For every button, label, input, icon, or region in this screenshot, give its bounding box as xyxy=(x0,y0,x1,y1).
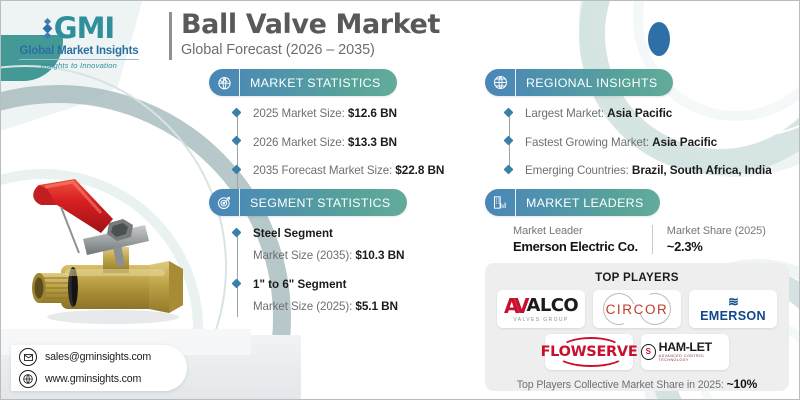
row-value: $5.1 BN xyxy=(355,299,398,313)
row-value: $10.3 BN xyxy=(355,248,404,262)
row-value: Asia Pacific xyxy=(652,135,717,149)
badge-label: MARKET STATISTICS xyxy=(240,76,397,90)
badge-label: MARKET LEADERS xyxy=(516,196,660,210)
bar-chart-building-icon xyxy=(485,189,516,216)
decorative-blue-dot xyxy=(648,22,670,56)
envelope-icon xyxy=(19,348,37,366)
emerson-wordmark: EMERSON xyxy=(700,310,766,323)
list-item: Largest Market: Asia Pacific xyxy=(505,104,772,122)
market-share-label: Market Share (2025) xyxy=(667,225,766,237)
globe-icon xyxy=(19,370,37,388)
player-logo-alco: AV ALCO VALVES GROUP xyxy=(497,290,585,328)
hamlet-wordmark: HAM-LET xyxy=(659,341,729,353)
diamond-marker-icon xyxy=(232,107,242,117)
emerson-mark-icon: ≋ xyxy=(728,295,738,308)
row-label: 2026 Market Size: xyxy=(253,136,348,149)
segment-detail: Market Size (2035): $10.3 BN xyxy=(233,248,404,262)
circor-swoosh-icon xyxy=(598,288,641,331)
flowserve-arc-bottom-icon xyxy=(557,343,625,367)
player-logo-emerson: ≋ EMERSON xyxy=(689,290,777,328)
page-title: Ball Valve Market xyxy=(181,9,440,40)
logo-tagline: Insights to Innovation xyxy=(9,61,149,70)
gmi-logo: GMI Global Market Insights Insights to I… xyxy=(9,13,149,69)
row-value: $13.3 BN xyxy=(348,135,397,149)
badge-segment-statistics: SEGMENT STATISTICS xyxy=(209,189,407,216)
diamond-marker-icon xyxy=(504,107,514,117)
player-logo-circor: CIRCOR xyxy=(593,290,681,328)
decorative-arc-top-right-3 xyxy=(633,0,800,121)
row-label: Fastest Growing Market: xyxy=(525,136,652,149)
segment-title: 1" to 6" Segment xyxy=(253,278,346,291)
circor-swoosh-icon-2 xyxy=(634,288,677,331)
globe-icon xyxy=(485,69,516,96)
logo-company-name: Global Market Insights xyxy=(9,45,149,57)
diamond-marker-icon xyxy=(232,136,242,146)
row-value: $22.8 BN xyxy=(395,163,444,177)
list-item: 1" to 6" Segment xyxy=(233,275,404,293)
diamond-marker-icon xyxy=(504,164,514,174)
row-label: Market Size (2035): xyxy=(253,249,355,262)
list-item: Fastest Growing Market: Asia Pacific xyxy=(505,133,772,151)
diamond-marker-icon xyxy=(232,278,242,288)
row-label: Emerging Countries: xyxy=(525,164,632,177)
top-players-panel: TOP PLAYERS AV ALCO VALVES GROUP CIRCOR xyxy=(485,263,789,391)
badge-market-statistics: MARKET STATISTICS xyxy=(209,69,397,96)
page-subtitle: Global Forecast (2026 – 2035) xyxy=(181,42,440,58)
row-label: Largest Market: xyxy=(525,107,607,120)
logo-wordmark: GMI xyxy=(54,14,114,43)
list-item: Steel Segment xyxy=(233,224,404,242)
market-leader-label: Market Leader xyxy=(513,225,638,237)
market-share-value: ~2.3% xyxy=(667,239,766,254)
logo-mark: GMI xyxy=(9,13,149,43)
player-logo-flowserve: FLOWSERVE xyxy=(545,334,633,370)
alco-logo: AV ALCO VALVES GROUP xyxy=(504,296,578,323)
hamlet-swirl-icon: S xyxy=(641,344,656,360)
market-share-column: Market Share (2025) ~2.3% xyxy=(652,225,766,254)
list-item: 2026 Market Size: $13.3 BN xyxy=(233,133,444,151)
top-players-row-2: FLOWSERVE S HAM-LET ADVANCED CONTROL TEC… xyxy=(485,334,789,370)
row-label: Market Size (2025): xyxy=(253,300,355,313)
market-leaders-stats: Market Leader Emerson Electric Co. Marke… xyxy=(513,225,766,254)
timeline-rail xyxy=(237,231,239,317)
contact-website: www.gminsights.com xyxy=(45,373,141,385)
market-leader-value: Emerson Electric Co. xyxy=(513,239,638,254)
segment-statistics-list: Steel Segment Market Size (2035): $10.3 … xyxy=(233,224,404,326)
contact-website-row[interactable]: www.gminsights.com xyxy=(19,370,187,388)
alco-wordmark: ALCO xyxy=(527,297,579,315)
alco-subtext: VALVES GROUP xyxy=(513,318,568,323)
diamond-marker-icon xyxy=(232,164,242,174)
title-accent-bar xyxy=(169,12,172,60)
market-leader-column: Market Leader Emerson Electric Co. xyxy=(513,225,652,254)
badge-label: REGIONAL INSIGHTS xyxy=(516,76,673,90)
diamond-marker-icon xyxy=(232,227,242,237)
segment-title: Steel Segment xyxy=(253,227,333,240)
list-item: Emerging Countries: Brazil, South Africa… xyxy=(505,161,772,179)
alco-chevron-icon: AV xyxy=(504,296,526,316)
badge-regional-insights: REGIONAL INSIGHTS xyxy=(485,69,673,96)
flowserve-logo: FLOWSERVE xyxy=(547,336,631,368)
globe-chart-icon xyxy=(209,69,240,96)
player-logo-hamlet: S HAM-LET ADVANCED CONTROL TECHNOLOGY xyxy=(641,334,729,370)
hamlet-subtext: ADVANCED CONTROL TECHNOLOGY xyxy=(659,355,729,362)
segment-detail: Market Size (2025): $5.1 BN xyxy=(233,299,404,313)
top-players-footer-label: Top Players Collective Market Share in 2… xyxy=(517,379,727,391)
infographic-root: GMI Global Market Insights Insights to I… xyxy=(0,0,800,400)
circor-logo: CIRCOR xyxy=(597,294,677,324)
top-players-title: TOP PLAYERS xyxy=(485,263,789,284)
row-label: 2025 Market Size: xyxy=(253,107,348,120)
top-players-footer-value: ~10% xyxy=(727,377,758,391)
title-block: Ball Valve Market Global Forecast (2026 … xyxy=(181,9,440,58)
contact-email-row[interactable]: sales@gminsights.com xyxy=(19,348,187,366)
contact-email: sales@gminsights.com xyxy=(45,351,151,363)
badge-market-leaders: MARKET LEADERS xyxy=(485,189,660,216)
row-value: Asia Pacific xyxy=(607,106,672,120)
badge-label: SEGMENT STATISTICS xyxy=(240,196,407,210)
top-players-footer: Top Players Collective Market Share in 2… xyxy=(485,377,789,391)
ball-valve-product-image xyxy=(17,161,213,341)
regional-insights-list: Largest Market: Asia Pacific Fastest Gro… xyxy=(505,104,772,179)
list-item: 2025 Market Size: $12.6 BN xyxy=(233,104,444,122)
top-players-row-1: AV ALCO VALVES GROUP CIRCOR ≋ EMERSON xyxy=(485,290,789,328)
hamlet-logo: S HAM-LET ADVANCED CONTROL TECHNOLOGY xyxy=(641,341,729,362)
emerson-logo: ≋ EMERSON xyxy=(700,295,766,323)
diamond-marker-icon xyxy=(504,136,514,146)
row-label: 2035 Forecast Market Size: xyxy=(253,164,395,177)
row-value: $12.6 BN xyxy=(348,106,397,120)
row-value: Brazil, South Africa, India xyxy=(632,163,772,177)
diamond-icon xyxy=(44,19,51,38)
list-item: 2035 Forecast Market Size: $22.8 BN xyxy=(233,161,444,179)
logo-divider xyxy=(19,59,139,60)
contact-panel: sales@gminsights.com www.gminsights.com xyxy=(11,345,187,391)
timeline-rail xyxy=(237,111,239,199)
target-arrow-icon xyxy=(209,189,240,216)
